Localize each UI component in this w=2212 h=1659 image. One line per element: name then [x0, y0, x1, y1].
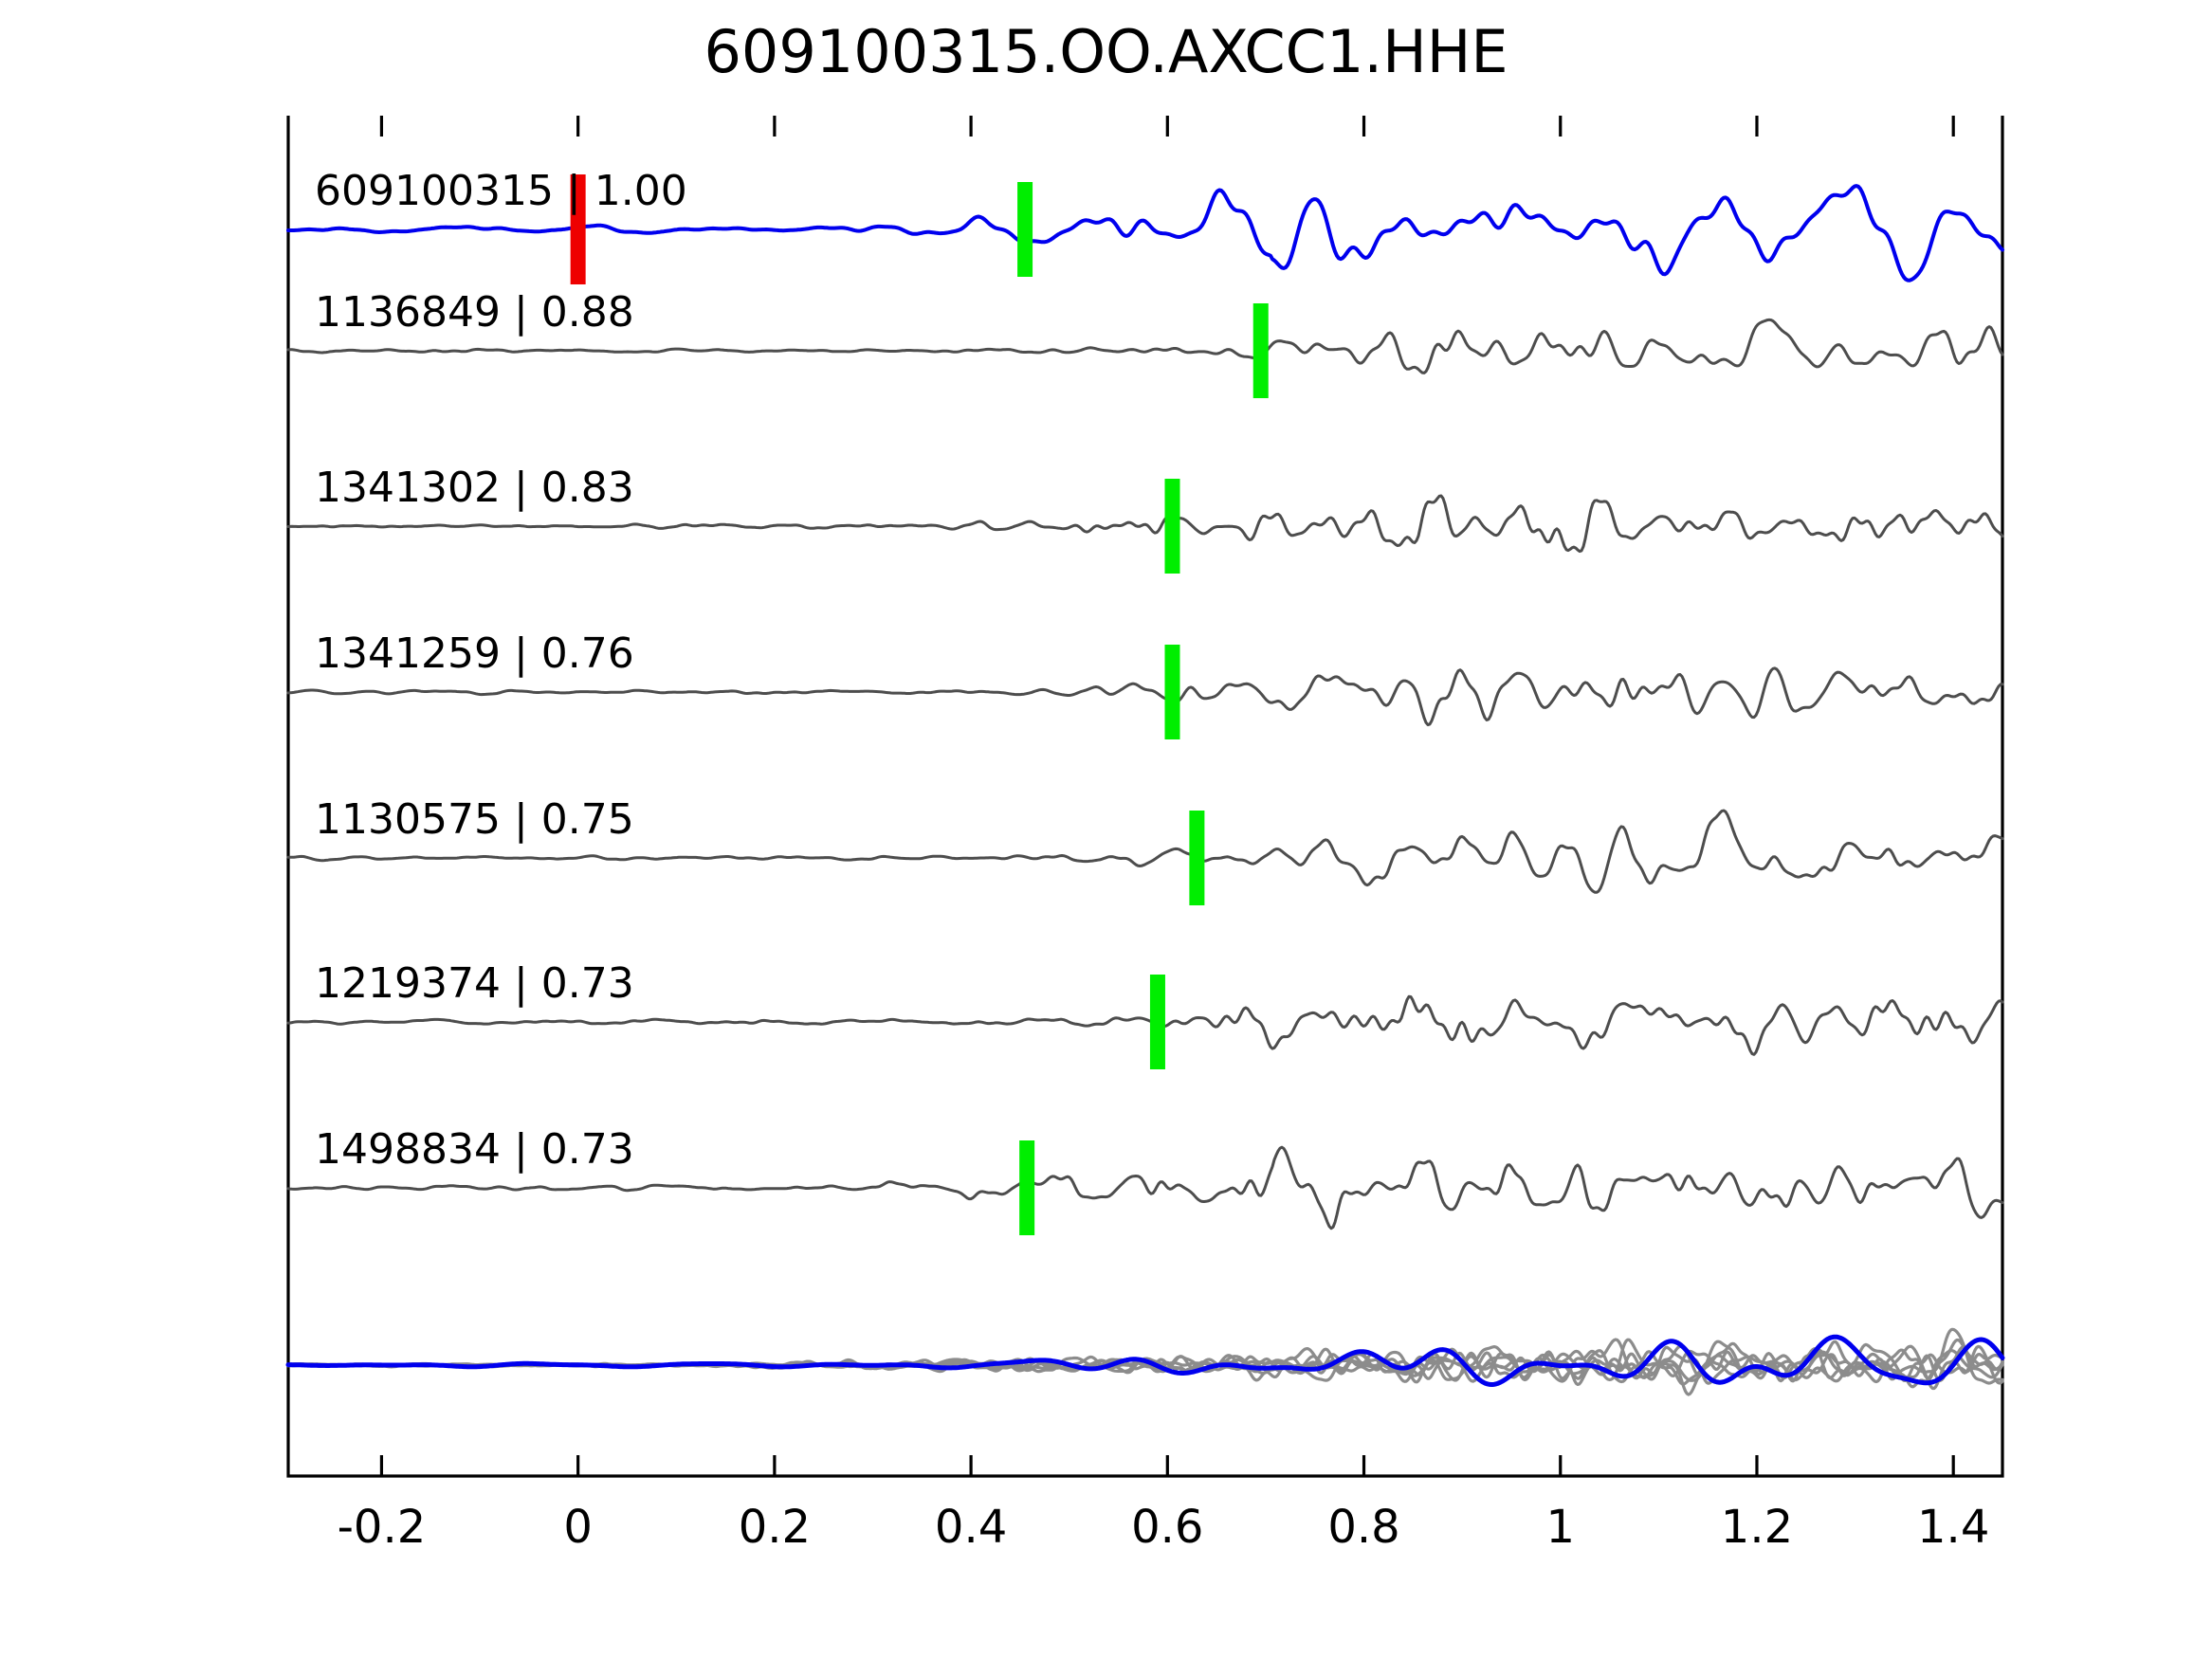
trace-label-609100315: 609100315 | 1.00 [315, 167, 687, 215]
x-tick-label: 1 [1545, 1501, 1575, 1554]
pick-marker-green [1164, 645, 1179, 739]
seismic-waveform-figure: 609100315.OO.AXCC1.HHE 609100315 | 1.001… [0, 0, 2212, 1659]
pick-marker-green [1150, 975, 1165, 1069]
x-tick-label: 0 [563, 1501, 593, 1554]
trace-label-1219374: 1219374 | 0.73 [315, 959, 634, 1008]
pick-marker-green [1017, 182, 1033, 277]
phase-markers [571, 174, 1269, 1235]
trace-label-1498834: 1498834 | 0.73 [315, 1125, 634, 1174]
pick-marker-green [1253, 303, 1269, 398]
plot-canvas: 609100315 | 1.001136849 | 0.881341302 | … [0, 0, 2212, 1659]
pick-marker-green [1019, 1140, 1034, 1235]
x-tick-label: 0.6 [1131, 1501, 1203, 1554]
x-tick-label: 0.8 [1327, 1501, 1399, 1554]
x-tick-label: 1.2 [1721, 1501, 1793, 1554]
trace-label-1341302: 1341302 | 0.83 [315, 464, 634, 512]
waveform-traces [288, 186, 2002, 1395]
x-tick-label: -0.2 [338, 1501, 427, 1554]
x-tick-label: 0.4 [935, 1501, 1007, 1554]
overlay-trace-blue-template [288, 1337, 2002, 1384]
pick-marker-green [1189, 811, 1204, 905]
x-tick-label: 1.4 [1917, 1501, 1989, 1554]
x-tick-label: 0.2 [739, 1501, 811, 1554]
pick-marker-green [1164, 479, 1179, 574]
trace-label-1136849: 1136849 | 0.88 [315, 288, 634, 337]
trace-label-1130575: 1130575 | 0.75 [315, 795, 634, 844]
trace-label-1341259: 1341259 | 0.76 [315, 629, 634, 678]
